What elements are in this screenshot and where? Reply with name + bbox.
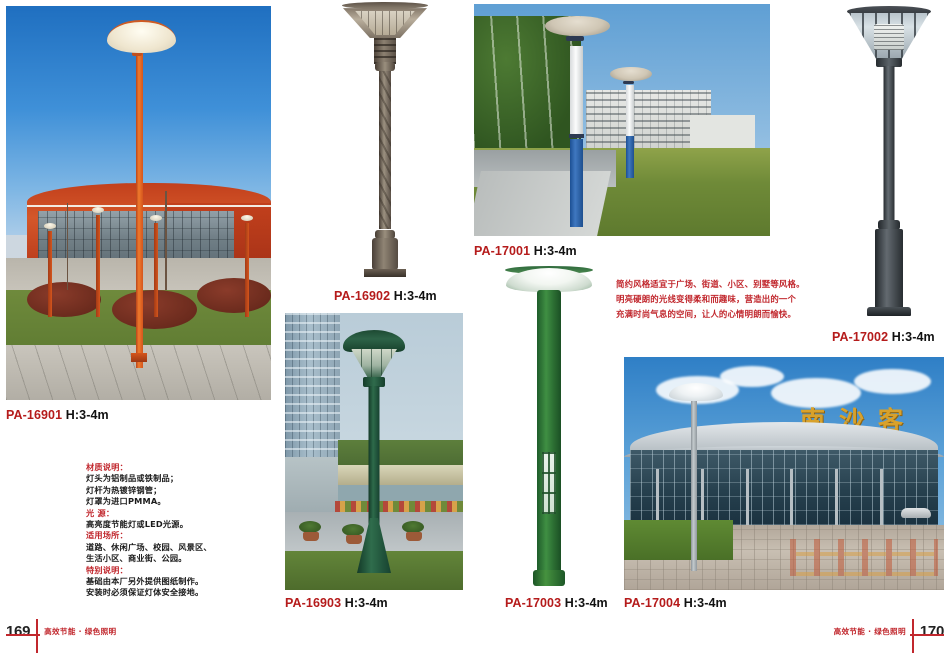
product-code: PA-16902	[334, 289, 390, 303]
shrub	[197, 278, 271, 313]
description-line: 简约风格适宜于广场、街道、小区、别墅等风格。	[616, 277, 816, 292]
product-dimension: H:3-4m	[345, 596, 388, 610]
lamp-pole	[379, 64, 391, 229]
building-annex	[690, 115, 755, 150]
footer-underline-left	[6, 634, 40, 636]
product-photo-pa-17004: 南沙客	[624, 357, 944, 590]
lamp-pole	[691, 390, 697, 572]
planter-pot	[406, 532, 422, 541]
product-photo-pa-16903	[285, 313, 463, 590]
terminal-glass-facade	[630, 450, 937, 525]
spec-special-line: 安装时必须保证灯体安全接地。	[86, 587, 276, 598]
caption-pa-17004: PA-17004 H:3-4m	[624, 596, 727, 610]
product-code: PA-16903	[285, 596, 341, 610]
pole-ring	[375, 62, 395, 71]
product-code: PA-16901	[6, 408, 62, 422]
spec-special-heading: 特别说明：	[86, 565, 276, 576]
product-shot-pa-17003	[495, 262, 603, 592]
spec-source-heading: 光 源：	[86, 508, 276, 519]
planter-pot	[303, 532, 319, 541]
lamp-pole	[537, 290, 561, 575]
lamp-diffuser	[874, 24, 904, 50]
lamp-upper-back	[626, 85, 634, 136]
caption-pa-16903: PA-16903 H:3-4m	[285, 596, 388, 610]
caption-pa-17002: PA-17002 H:3-4m	[832, 330, 935, 344]
lamp-lower-back	[626, 136, 634, 178]
lamp-shade-back	[610, 67, 651, 81]
bollard-light	[245, 223, 249, 318]
bollard-head	[241, 215, 253, 221]
page-number-right: 170	[920, 623, 944, 640]
lamp-mid-ring-front	[569, 134, 584, 138]
product-code: PA-17002	[832, 330, 888, 344]
description-block: 简约风格适宜于广场、街道、小区、别墅等风格。 明亮硬朗的光线变得柔和而趣味，营造…	[616, 277, 816, 322]
spec-material-line: 灯杆为热镀锌钢管；	[86, 485, 276, 496]
bare-tree	[165, 191, 167, 290]
spec-material-heading: 材质说明：	[86, 462, 276, 473]
lamp-pole	[884, 66, 895, 222]
bollard-head	[92, 207, 104, 213]
spec-source-line: 高亮度节能灯或LED光源。	[86, 519, 276, 530]
spec-material-line: 灯头为铝制品或铁制品；	[86, 473, 276, 484]
potted-plant	[342, 524, 364, 536]
lamp-window-panel	[542, 452, 556, 514]
planter-pot	[346, 535, 362, 544]
lamp-base	[533, 570, 565, 586]
product-dimension: H:3-4m	[684, 596, 727, 610]
lamp-pole	[136, 41, 143, 368]
caption-pa-17001: PA-17001 H:3-4m	[474, 244, 577, 258]
product-dimension: H:3-4m	[892, 330, 935, 344]
bollard-light	[154, 223, 158, 318]
page-number-left: 169	[6, 623, 30, 640]
footer-underline-right	[910, 634, 944, 636]
footer-divider	[36, 619, 38, 653]
specification-block: 材质说明： 灯头为铝制品或铁制品； 灯杆为热镀锌钢管； 灯罩为进口PMMA。 光…	[86, 462, 276, 599]
water-feature	[338, 485, 463, 502]
footer-right: 高效节能 · 绿色照明 170	[834, 620, 944, 642]
product-shot-pa-17002	[834, 2, 944, 320]
potted-plant	[402, 521, 424, 533]
cloud	[854, 369, 931, 395]
description-line: 明亮硬朗的光线变得柔和而趣味，营造出的一个	[616, 292, 816, 307]
lamp-shade	[107, 20, 176, 54]
lamp-base	[131, 353, 147, 362]
spec-material-line: 灯罩为进口PMMA。	[86, 496, 276, 507]
spec-usage-heading: 适用场所：	[86, 530, 276, 541]
spec-special-line: 基础由本厂另外提供图纸制作。	[86, 576, 276, 587]
product-code: PA-17004	[624, 596, 680, 610]
product-photo-pa-16901	[6, 6, 271, 400]
lamp-pole	[369, 386, 380, 526]
bollard-light	[96, 215, 100, 317]
lamp-lower-front	[570, 139, 583, 227]
footer-slogan-right: 高效节能 · 绿色照明	[834, 626, 906, 637]
glass-tower	[285, 313, 340, 468]
sidewalk	[474, 171, 611, 236]
bollard-head	[44, 223, 56, 229]
product-code: PA-17001	[474, 244, 530, 258]
lamp-ring-back	[623, 81, 634, 84]
footer-divider	[912, 619, 914, 653]
lamp-foot	[372, 238, 398, 270]
lamp-foot	[875, 229, 903, 309]
product-dimension: H:3-4m	[66, 408, 109, 422]
footer-slogan-left: 高效节能 · 绿色照明	[44, 626, 116, 637]
lawn	[624, 520, 733, 560]
spec-usage-line: 生活小区、商业街、公园。	[86, 553, 276, 564]
product-dimension: H:3-4m	[534, 244, 577, 258]
pergola-canopy	[338, 465, 463, 484]
parked-car	[901, 508, 931, 518]
bare-tree	[67, 203, 69, 290]
bollard-light	[48, 231, 52, 318]
product-photo-pa-17001	[474, 4, 770, 236]
base-plate	[867, 307, 911, 316]
lamp-collar	[374, 38, 396, 64]
description-line: 充满时尚气息的空间，让人的心情明朗而愉快。	[616, 307, 816, 322]
lamp-ring-front	[566, 36, 584, 41]
base-plate	[364, 269, 406, 277]
lamp-upper-front	[570, 46, 583, 134]
product-shot-pa-16902	[330, 2, 440, 280]
product-code: PA-17003	[505, 596, 561, 610]
tree-row	[474, 16, 581, 160]
lamp-cap	[342, 2, 428, 9]
caption-pa-16901: PA-16901 H:3-4m	[6, 408, 109, 422]
catalog-page: PA-16901 H:3-4m PA-16902 H:3-4m	[0, 0, 950, 654]
product-dimension: H:3-4m	[565, 596, 608, 610]
product-dimension: H:3-4m	[394, 289, 437, 303]
caption-pa-17003: PA-17003 H:3-4m	[505, 596, 608, 610]
spec-usage-line: 道路、休闲广场、校园、风景区、	[86, 542, 276, 553]
building-stripe	[27, 205, 271, 208]
paving-pattern	[790, 539, 937, 576]
potted-plant	[299, 521, 321, 533]
bollard-head	[150, 215, 162, 221]
caption-pa-16902: PA-16902 H:3-4m	[334, 289, 437, 303]
footer-left: 169 高效节能 · 绿色照明	[6, 620, 116, 642]
